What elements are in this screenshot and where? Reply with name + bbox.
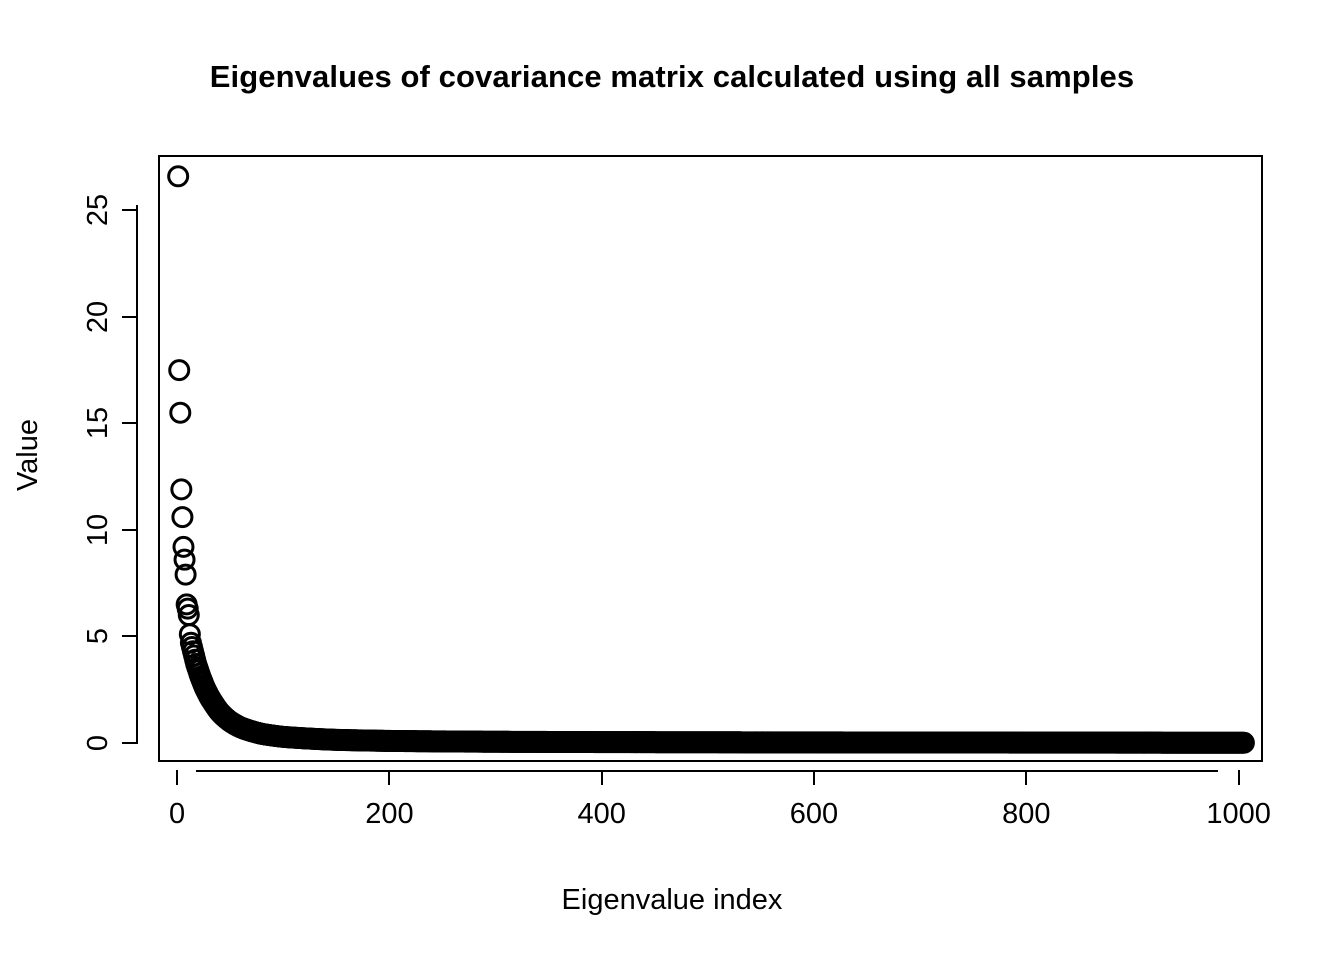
y-tick-20 [122, 316, 138, 318]
plot-area [158, 155, 1263, 762]
x-axis-line [196, 770, 1218, 772]
scatter-points [158, 155, 1263, 762]
x-tick-0 [176, 770, 178, 785]
x-tick-1000 [1238, 770, 1240, 785]
y-tick-label-10: 10 [81, 510, 115, 550]
x-tick-600 [813, 770, 815, 785]
x-tick-label-400: 400 [577, 797, 625, 831]
y-axis-line [136, 205, 138, 742]
y-tick-label-5: 5 [81, 616, 115, 656]
x-tick-800 [1025, 770, 1027, 785]
y-tick-0 [122, 742, 138, 744]
y-tick-5 [122, 635, 138, 637]
x-tick-label-0: 0 [169, 797, 185, 831]
x-tick-label-800: 800 [1002, 797, 1050, 831]
x-axis-title: Eigenvalue index [0, 882, 1344, 918]
y-tick-25 [122, 209, 138, 211]
page-title: Eigenvalues of covariance matrix calcula… [0, 58, 1344, 96]
x-tick-label-600: 600 [790, 797, 838, 831]
x-tick-label-200: 200 [365, 797, 413, 831]
chart-page: Eigenvalues of covariance matrix calcula… [0, 0, 1344, 960]
y-tick-10 [122, 529, 138, 531]
x-tick-200 [388, 770, 390, 785]
y-axis-title: Value [10, 375, 46, 535]
x-tick-label-1000: 1000 [1206, 797, 1271, 831]
x-tick-400 [601, 770, 603, 785]
y-tick-label-20: 20 [81, 297, 115, 337]
y-tick-label-15: 15 [81, 403, 115, 443]
y-tick-15 [122, 422, 138, 424]
y-tick-label-0: 0 [81, 723, 115, 763]
y-tick-label-25: 25 [81, 190, 115, 230]
